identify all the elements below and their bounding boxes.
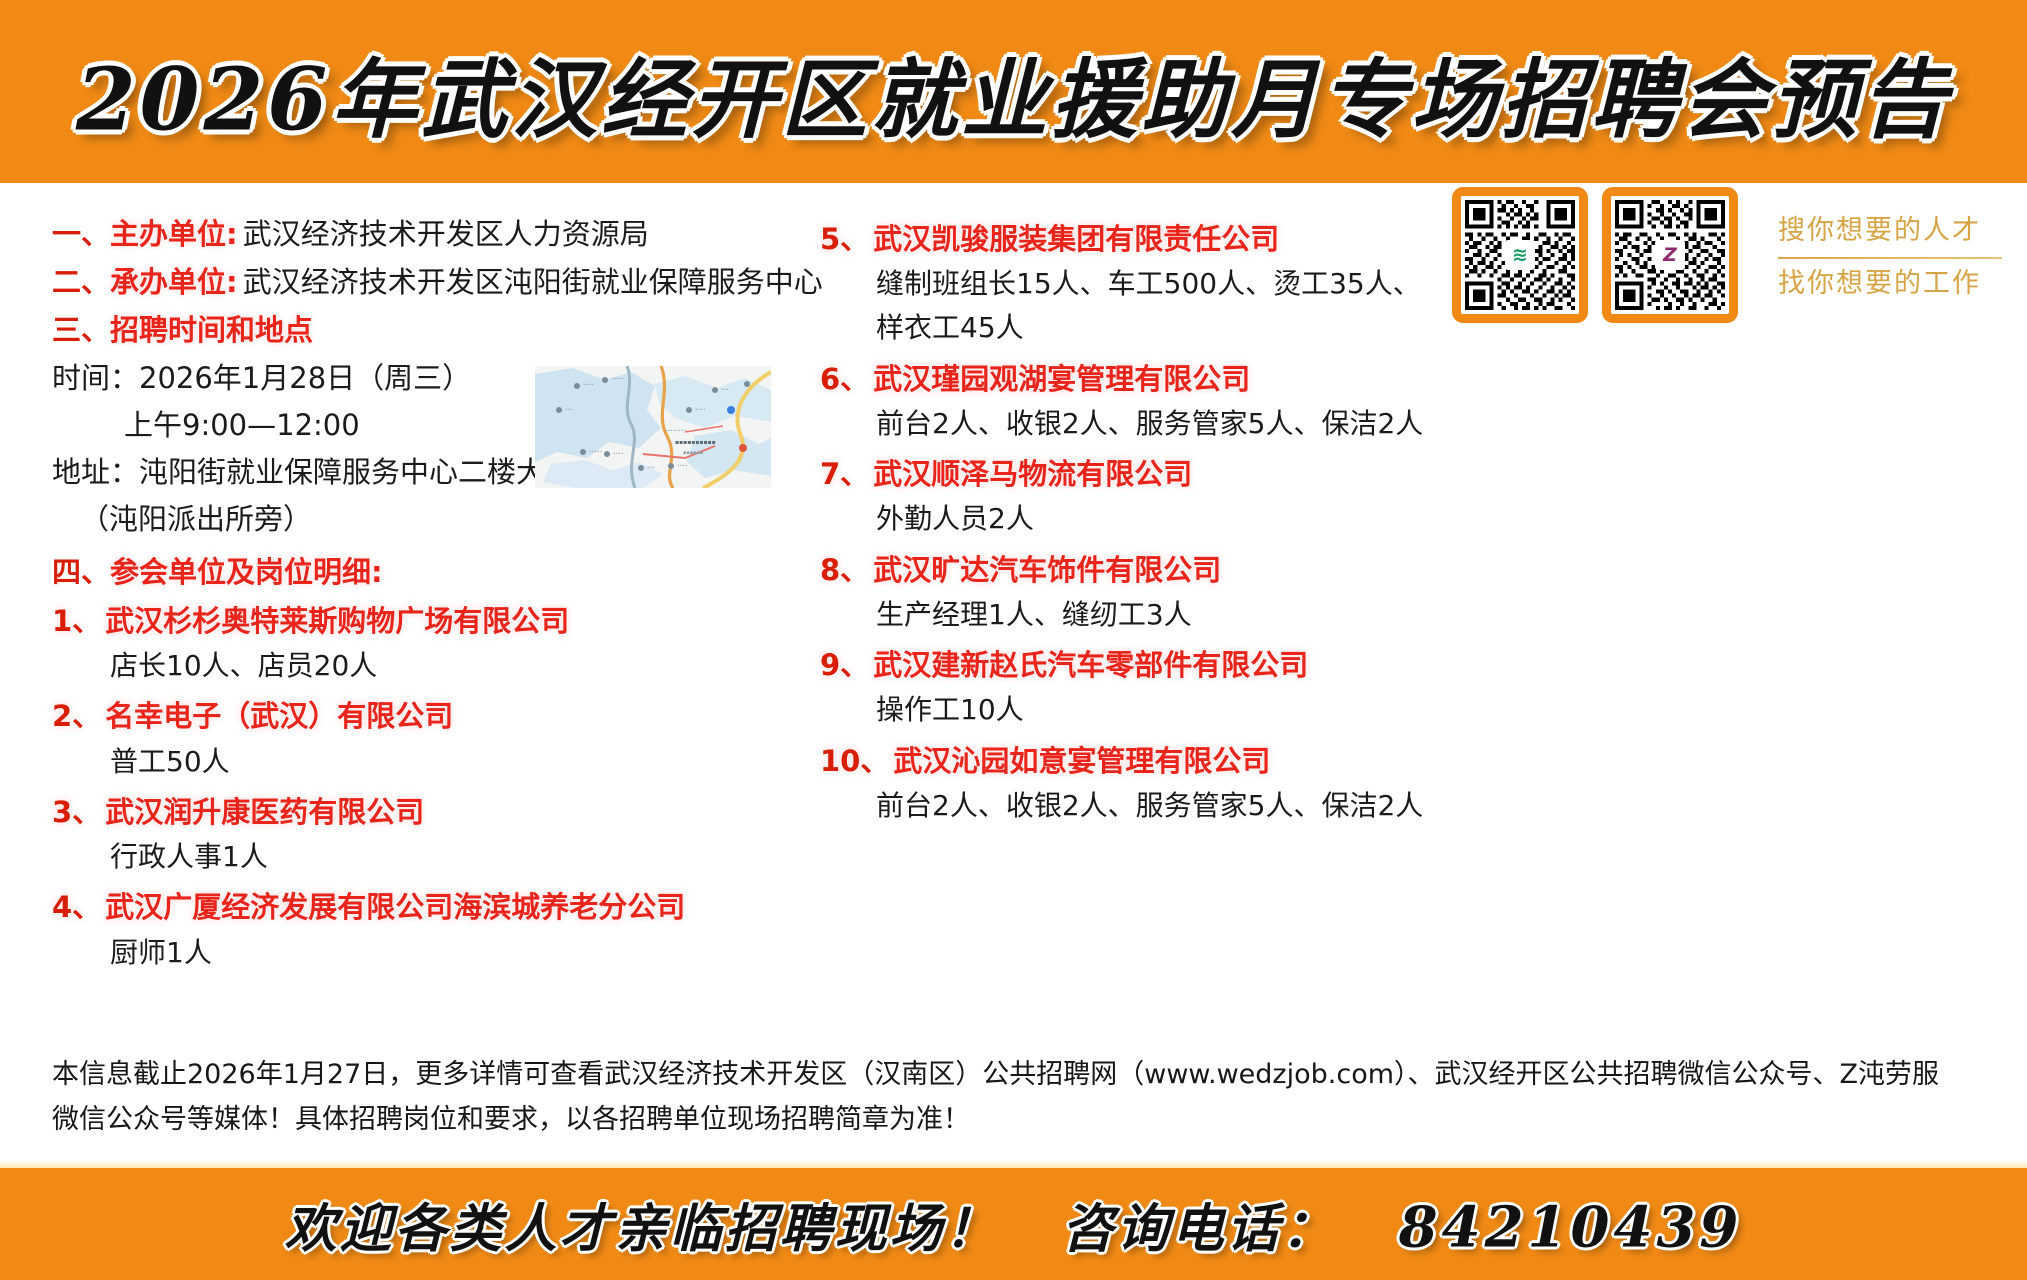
company-entry: 2、名幸电子（武汉）有限公司普工50人 <box>52 694 812 783</box>
section-time-place-label: 招聘时间和地点 <box>110 313 313 347</box>
svg-text:•••: ••• <box>647 466 655 471</box>
company-name-text: 武汉顺泽马物流有限公司 <box>873 457 1192 491</box>
svg-text:•••: ••• <box>565 408 573 413</box>
company-positions: 样衣工45人 <box>820 306 1440 350</box>
company-entry: 6、武汉瑾园观湖宴管理有限公司前台2人、收银2人、服务管家5人、保洁2人 <box>820 357 1440 446</box>
svg-text:•••: ••• <box>721 388 729 393</box>
company-positions: 普工50人 <box>52 740 812 784</box>
company-index: 7、 <box>820 457 869 491</box>
event-address-detail: （沌阳派出所旁） <box>52 496 812 543</box>
company-name: 3、武汉润升康医药有限公司 <box>52 790 812 835</box>
company-index: 8、 <box>820 553 869 587</box>
company-name: 4、武汉广厦经济发展有限公司海滨城养老分公司 <box>52 885 812 930</box>
right-column: 5、武汉凯骏服装集团有限责任公司缝制班组长15人、车工500人、烫工35人、样衣… <box>820 211 1440 828</box>
location-map-thumbnail[interactable]: ••••••••• •••••••• ••••••• •••••••• ••••… <box>535 366 771 488</box>
company-index: 3、 <box>52 795 101 829</box>
footer-phone-number: 84210439 <box>1399 1195 1743 1261</box>
svg-text:••••: •••• <box>583 383 594 388</box>
company-positions: 行政人事1人 <box>52 835 812 879</box>
disclaimer-line-2: 微信公众号等媒体！具体招聘岗位和要求，以各招聘单位现场招聘简章为准！ <box>52 1098 1982 1143</box>
poster-body: 一、主办单位: 武汉经济技术开发区人力资源局 二、承办单位: 武汉经济技术开发区… <box>0 183 2027 1168</box>
company-positions: 缝制班组长15人、车工500人、烫工35人、 <box>820 262 1440 306</box>
section-time-place-number: 三、 <box>52 313 110 347</box>
company-entry: 3、武汉润升康医药有限公司行政人事1人 <box>52 790 812 879</box>
disclaimer-note: 本信息截止2026年1月27日，更多详情可查看武汉经济技术开发区（汉南区）公共招… <box>52 1053 1982 1143</box>
section-time-place-heading: 三、招聘时间和地点 <box>52 307 812 349</box>
poster-title: 2026年武汉经开区就业援助月专场招聘会预告 <box>0 29 2027 154</box>
company-name: 10、武汉沁园如意宴管理有限公司 <box>820 739 1440 784</box>
company-name-text: 武汉瑾园观湖宴管理有限公司 <box>873 362 1250 396</box>
company-name: 7、武汉顺泽马物流有限公司 <box>820 452 1440 497</box>
company-name-text: 名幸电子（武汉）有限公司 <box>105 699 453 733</box>
footer-divider <box>0 1160 2027 1168</box>
company-index: 1、 <box>52 604 101 638</box>
svg-text:••••: •••• <box>695 408 706 413</box>
slogan-divider <box>1778 257 2002 259</box>
company-entry: 10、武汉沁园如意宴管理有限公司前台2人、收银2人、服务管家5人、保洁2人 <box>820 739 1440 828</box>
slogan-block: 搜你想要的人才 找你想要的工作 <box>1778 187 2002 304</box>
poster-footer-band: 欢迎各类人才亲临招聘现场！ 咨询电话： 84210439 <box>0 1168 2027 1280</box>
company-name: 8、武汉旷达汽车饰件有限公司 <box>820 548 1440 593</box>
company-name: 2、名幸电子（武汉）有限公司 <box>52 694 812 739</box>
poster-header-band: 2026年武汉经开区就业援助月专场招聘会预告 <box>0 0 2027 183</box>
qr-right-logo-icon: Z <box>1655 240 1685 270</box>
slogan-line-2: 找你想要的工作 <box>1778 264 2002 305</box>
company-index: 6、 <box>820 362 869 396</box>
company-positions: 操作工10人 <box>820 688 1440 732</box>
company-positions: 厨师1人 <box>52 931 812 975</box>
company-name-text: 武汉旷达汽车饰件有限公司 <box>873 553 1221 587</box>
company-name: 5、武汉凯骏服装集团有限责任公司 <box>820 217 1440 262</box>
svg-text:•••••: ••••• <box>611 377 624 382</box>
left-company-list: 1、武汉杉杉奥特莱斯购物广场有限公司店长10人、店员20人2、名幸电子（武汉）有… <box>52 599 812 975</box>
section-organizer: 一、主办单位: 武汉经济技术开发区人力资源局 <box>52 211 812 253</box>
svg-text:▪▪▪▪▪▪▪▪▪▪: ▪▪▪▪▪▪▪▪▪▪ <box>675 439 716 446</box>
qr-section: ≋ <box>1452 187 2002 323</box>
section-co-organizer: 二、承办单位: 武汉经济技术开发区沌阳街就业保障服务中心 <box>52 259 812 301</box>
company-index: 4、 <box>52 890 101 924</box>
section-companies-heading: 四、参会单位及岗位明细: <box>52 549 812 591</box>
company-name: 9、武汉建新赵氏汽车零部件有限公司 <box>820 643 1440 688</box>
qr-left-logo-icon: ≋ <box>1505 240 1535 270</box>
svg-text:▪▪▪▪▪▪: ▪▪▪▪▪▪ <box>683 450 703 456</box>
company-name-text: 武汉杉杉奥特莱斯购物广场有限公司 <box>105 604 569 638</box>
company-index: 10、 <box>820 744 889 778</box>
section-companies-label: 参会单位及岗位明细: <box>110 555 383 589</box>
svg-text:•••••: ••••• <box>589 450 602 455</box>
company-name-text: 武汉凯骏服装集团有限责任公司 <box>873 222 1279 256</box>
company-index: 2、 <box>52 699 101 733</box>
section-companies-number: 四、 <box>52 555 110 589</box>
company-index: 5、 <box>820 222 869 256</box>
company-index: 9、 <box>820 648 869 682</box>
company-positions: 生产经理1人、缝纫工3人 <box>820 593 1440 637</box>
left-column: 一、主办单位: 武汉经济技术开发区人力资源局 二、承办单位: 武汉经济技术开发区… <box>52 211 812 975</box>
company-name-text: 武汉建新赵氏汽车零部件有限公司 <box>873 648 1308 682</box>
qr-code-z-labor-service[interactable]: Z <box>1602 187 1738 323</box>
section-organizer-value: 武汉经济技术开发区人力资源局 <box>243 217 649 251</box>
company-name: 6、武汉瑾园观湖宴管理有限公司 <box>820 357 1440 402</box>
slogan-line-1: 搜你想要的人才 <box>1778 211 2002 252</box>
disclaimer-line-1: 本信息截止2026年1月27日，更多详情可查看武汉经济技术开发区（汉南区）公共招… <box>52 1053 1982 1098</box>
company-entry: 1、武汉杉杉奥特莱斯购物广场有限公司店长10人、店员20人 <box>52 599 812 688</box>
company-positions: 前台2人、收银2人、服务管家5人、保洁2人 <box>820 402 1440 446</box>
company-positions: 外勤人员2人 <box>820 497 1440 541</box>
company-name-text: 武汉广厦经济发展有限公司海滨城养老分公司 <box>105 890 685 924</box>
footer-phone-label: 咨询电话： <box>1062 1187 1337 1262</box>
section-organizer-label: 主办单位: <box>110 217 238 251</box>
company-entry: 7、武汉顺泽马物流有限公司外勤人员2人 <box>820 452 1440 541</box>
svg-text:••••••••: •••••••• <box>665 429 686 434</box>
company-name: 1、武汉杉杉奥特莱斯购物广场有限公司 <box>52 599 812 644</box>
company-entry: 8、武汉旷达汽车饰件有限公司生产经理1人、缝纫工3人 <box>820 548 1440 637</box>
svg-text:••••: •••• <box>613 452 624 457</box>
section-organizer-number: 一、 <box>52 217 110 251</box>
company-name-text: 武汉润升康医药有限公司 <box>105 795 424 829</box>
company-entry: 9、武汉建新赵氏汽车零部件有限公司操作工10人 <box>820 643 1440 732</box>
company-entry: 4、武汉广厦经济发展有限公司海滨城养老分公司厨师1人 <box>52 885 812 974</box>
svg-text:••••: •••• <box>677 464 688 469</box>
section-co-organizer-value: 武汉经济技术开发区沌阳街就业保障服务中心 <box>243 265 823 299</box>
qr-code-public-account[interactable]: ≋ <box>1452 187 1588 323</box>
footer-welcome-text: 欢迎各类人才亲临招聘现场！ <box>285 1187 1000 1262</box>
right-company-list: 5、武汉凯骏服装集团有限责任公司缝制班组长15人、车工500人、烫工35人、样衣… <box>820 217 1440 828</box>
section-co-organizer-number: 二、 <box>52 265 110 299</box>
company-name-text: 武汉沁园如意宴管理有限公司 <box>893 744 1270 778</box>
company-positions: 前台2人、收银2人、服务管家5人、保洁2人 <box>820 784 1440 828</box>
section-co-organizer-label: 承办单位: <box>110 265 238 299</box>
company-entry: 5、武汉凯骏服装集团有限责任公司缝制班组长15人、车工500人、烫工35人、样衣… <box>820 217 1440 351</box>
company-positions: 店长10人、店员20人 <box>52 644 812 688</box>
